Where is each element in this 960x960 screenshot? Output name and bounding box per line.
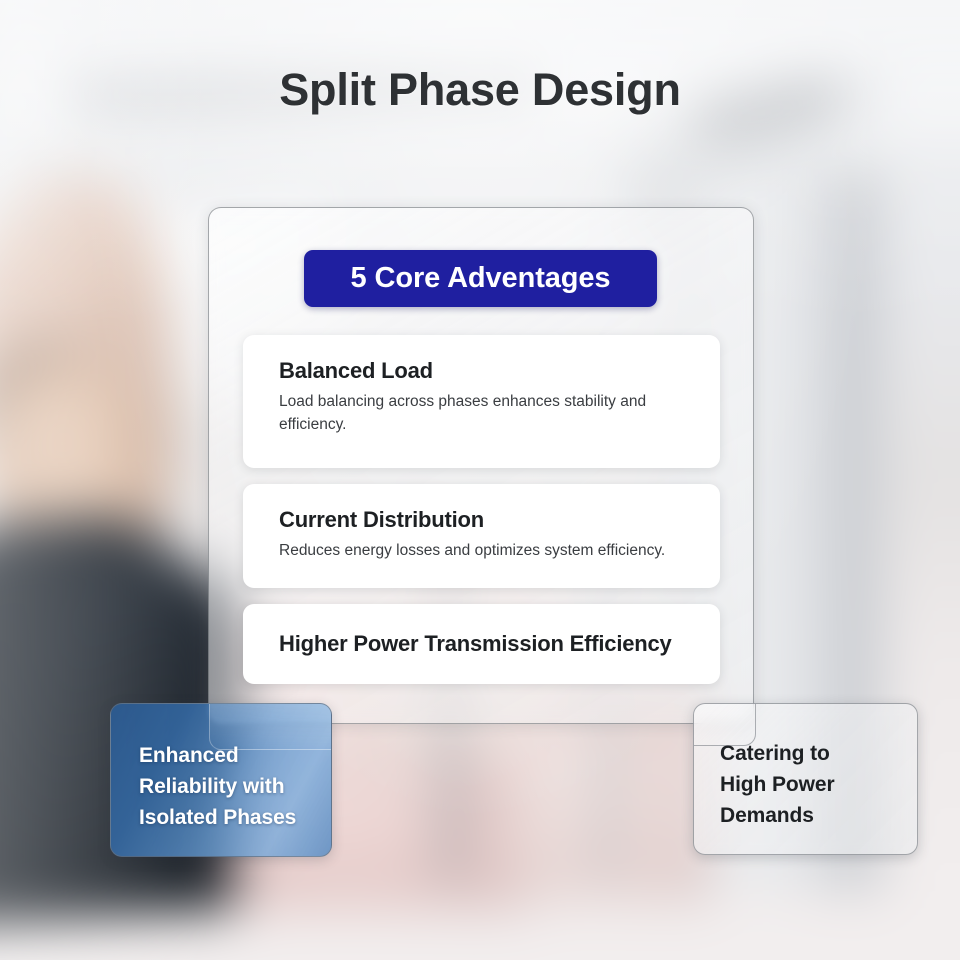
feature-card-title: Current Distribution (279, 507, 684, 533)
feature-card-description: Load balancing across phases enhances st… (279, 391, 679, 436)
infographic-stage: Split Phase Design 5 Core Adventages Bal… (0, 0, 960, 960)
bottom-card-label: Catering to High Power Demands (694, 704, 917, 831)
feature-card-body: Balanced Load Load balancing across phas… (243, 335, 720, 468)
core-advantages-banner: 5 Core Adventages (304, 250, 657, 307)
feature-card-body: Current Distribution Reduces energy loss… (243, 484, 720, 588)
bottom-card-catering-high-power[interactable]: Catering to High Power Demands (693, 703, 918, 855)
page-title: Split Phase Design (0, 64, 960, 116)
feature-card-body: Higher Power Transmission Efficiency (243, 604, 720, 684)
feature-card-title: Higher Power Transmission Efficiency (279, 631, 684, 657)
feature-card-title: Balanced Load (279, 358, 684, 384)
bottom-card-enhanced-reliability[interactable]: Enhanced Reliability with Isolated Phase… (110, 703, 332, 857)
bottom-card-label: Enhanced Reliability with Isolated Phase… (111, 704, 331, 833)
feature-card-description: Reduces energy losses and optimizes syst… (279, 540, 679, 562)
feature-card-balanced-load[interactable]: Balanced Load Load balancing across phas… (243, 335, 720, 468)
feature-card-higher-power-transmission-efficiency[interactable]: Higher Power Transmission Efficiency (243, 604, 720, 684)
feature-card-current-distribution[interactable]: Current Distribution Reduces energy loss… (243, 484, 720, 588)
core-advantages-banner-label: 5 Core Adventages (351, 262, 611, 295)
